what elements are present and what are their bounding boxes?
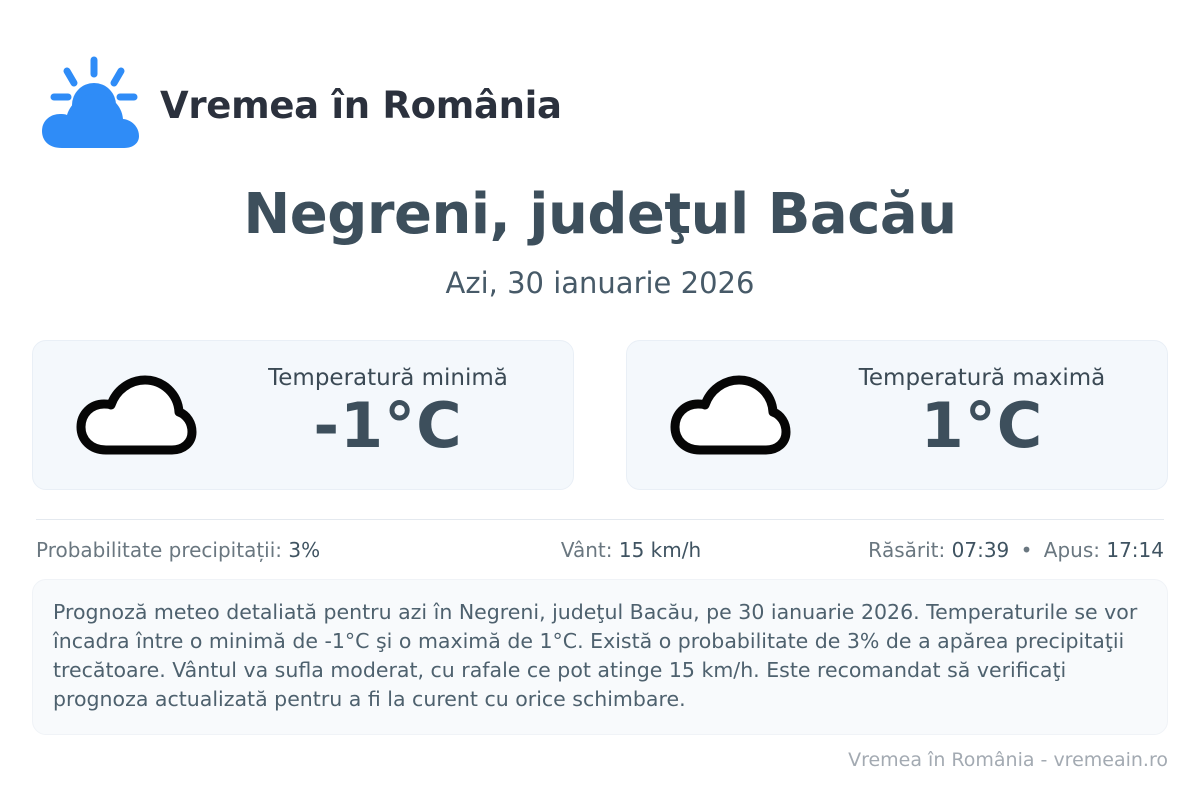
forecast-description-panel: Prognoză meteo detaliată pentru azi în N… — [32, 579, 1168, 735]
min-temperature-body: Temperatură minimă -1°C — [225, 366, 551, 464]
section-divider — [36, 519, 1164, 520]
precipitation-label: Probabilitate precipitații: — [36, 538, 282, 562]
wind-label: Vânt: — [561, 538, 613, 562]
precipitation-stat: Probabilitate precipitații: 3% — [36, 538, 506, 562]
weather-stats-row: Probabilitate precipitații: 3% Vânt: 15 … — [36, 538, 1164, 562]
site-header: Vremea în România — [36, 52, 562, 160]
min-temperature-value: -1°C — [313, 393, 462, 460]
temperature-cards: Temperatură minimă -1°C Temperatură maxi… — [32, 340, 1168, 490]
sun-separator: • — [1016, 538, 1038, 562]
max-temperature-label: Temperatură maximă — [859, 366, 1105, 391]
max-temperature-card: Temperatură maximă 1°C — [626, 340, 1168, 490]
sun-cloud-icon — [36, 52, 144, 160]
cloud-icon — [73, 372, 199, 458]
cloud-icon — [667, 372, 793, 458]
site-title: Vremea în România — [160, 86, 562, 126]
footer-credit: Vremea în România - vremeain.ro — [848, 749, 1168, 771]
weather-page: Vremea în România Negreni, judeţul Bacău… — [0, 0, 1200, 800]
sunset-value: 17:14 — [1106, 538, 1164, 562]
sun-times-stat: Răsărit: 07:39 • Apus: 17:14 — [756, 538, 1164, 562]
min-temperature-label: Temperatură minimă — [268, 366, 508, 391]
wind-stat: Vânt: 15 km/h — [506, 538, 756, 562]
sunrise-value: 07:39 — [952, 538, 1010, 562]
forecast-description-text: Prognoză meteo detaliată pentru azi în N… — [53, 598, 1141, 714]
sunrise-label: Răsărit: — [868, 538, 945, 562]
page-title: Negreni, judeţul Bacău — [0, 182, 1200, 247]
wind-value: 15 km/h — [619, 538, 701, 562]
max-temperature-value: 1°C — [921, 393, 1044, 460]
min-temperature-card: Temperatură minimă -1°C — [32, 340, 574, 490]
precipitation-value: 3% — [288, 538, 320, 562]
page-subtitle: Azi, 30 ianuarie 2026 — [0, 266, 1200, 300]
sunset-label: Apus: — [1044, 538, 1100, 562]
max-temperature-body: Temperatură maximă 1°C — [819, 366, 1145, 464]
